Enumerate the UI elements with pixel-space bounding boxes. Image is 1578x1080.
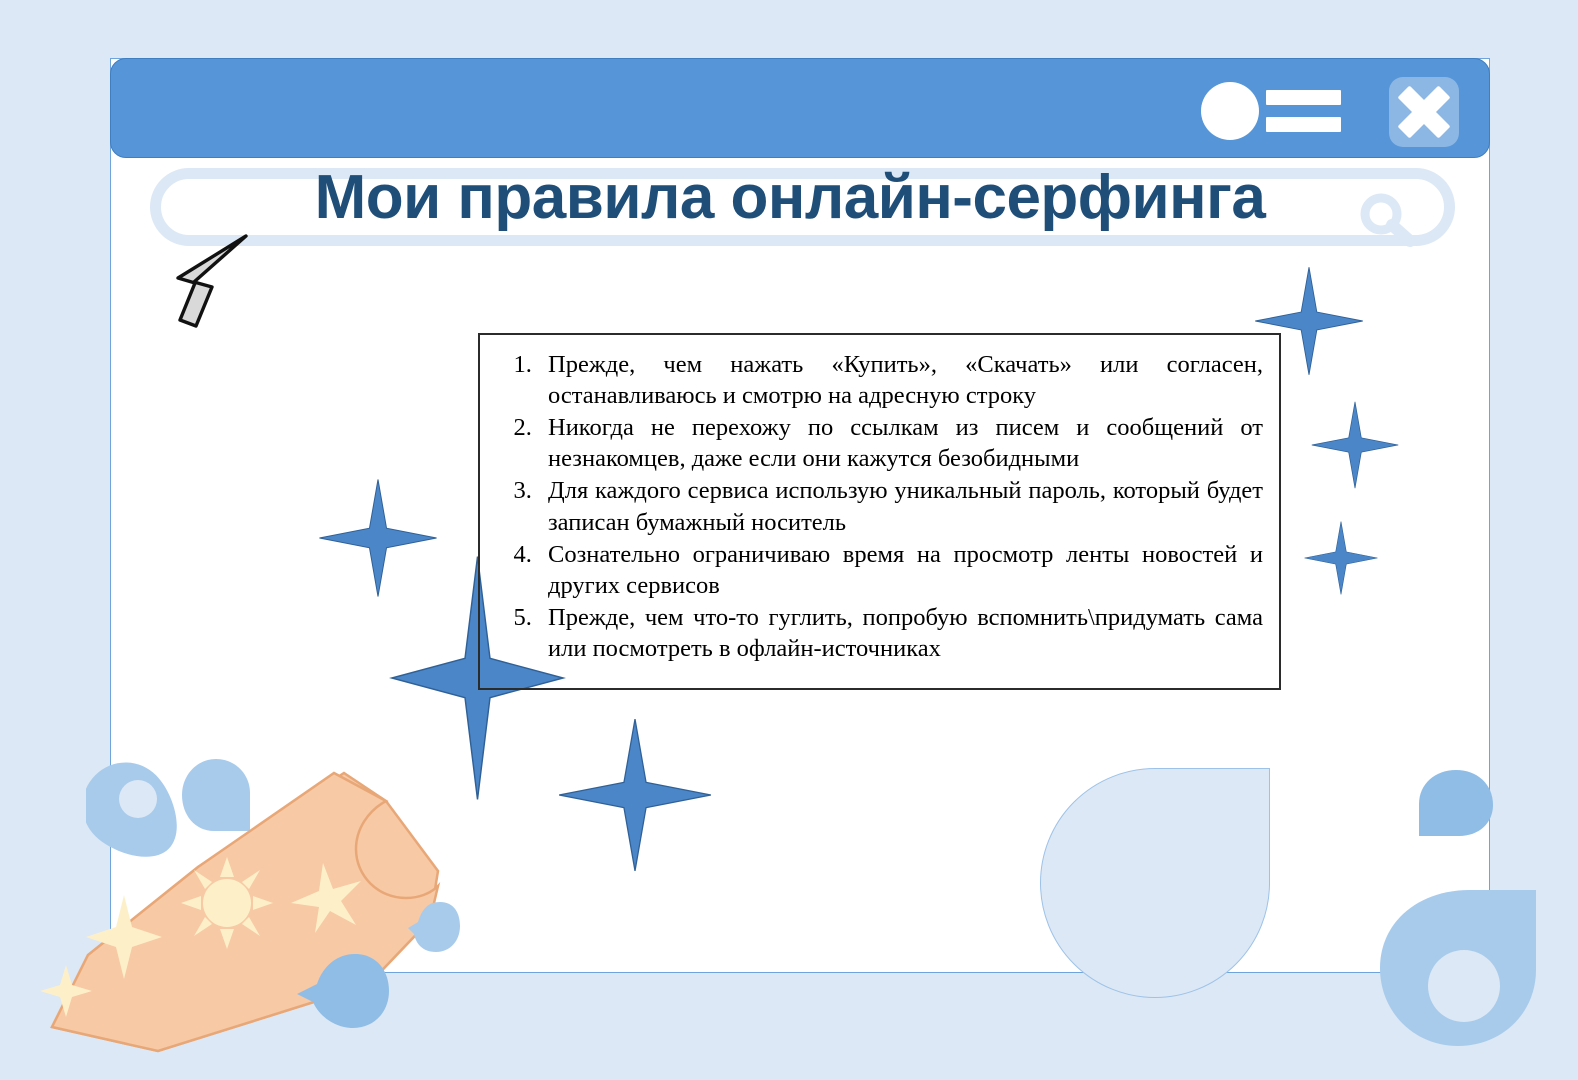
teardrop-icon xyxy=(1417,768,1495,843)
list-item: Прежде, чем что-то гуглить, попробую всп… xyxy=(538,602,1263,664)
hamburger-bar-bottom xyxy=(1266,117,1341,132)
browser-titlebar xyxy=(110,58,1490,158)
rules-textbox: Прежде, чем нажать «Купить», «Скачать» и… xyxy=(478,333,1281,690)
map-pin-icon xyxy=(1378,888,1538,1053)
search-icon[interactable] xyxy=(1356,189,1418,251)
four-point-star-icon xyxy=(1310,400,1400,490)
list-item: Никогда не перехожу по ссылкам из писем … xyxy=(538,412,1263,474)
four-point-star-icon xyxy=(556,716,714,874)
rules-list: Прежде, чем нажать «Купить», «Скачать» и… xyxy=(480,335,1279,664)
slide-canvas: Мои правила онлайн-серфинга Прежде, чем xyxy=(0,0,1578,1080)
four-point-star-icon xyxy=(1303,520,1379,596)
teardrop-icon xyxy=(295,952,391,1035)
pencil-icon xyxy=(38,755,468,1080)
close-icon[interactable] xyxy=(1389,77,1459,147)
list-item: Сознательно ограничиваю время на просмот… xyxy=(538,539,1263,601)
list-item: Прежде, чем нажать «Купить», «Скачать» и… xyxy=(538,349,1263,411)
hamburger-icon[interactable] xyxy=(1266,90,1341,132)
list-item: Для каждого сервиса использую уникальный… xyxy=(538,475,1263,537)
circle-icon[interactable] xyxy=(1201,82,1259,140)
page-title: Мои правила онлайн-серфинга xyxy=(300,166,1280,229)
teardrop-icon-large xyxy=(1040,768,1270,998)
hamburger-bar-top xyxy=(1266,90,1341,105)
teardrop-icon xyxy=(406,900,462,959)
mouse-pointer-icon xyxy=(168,228,263,343)
